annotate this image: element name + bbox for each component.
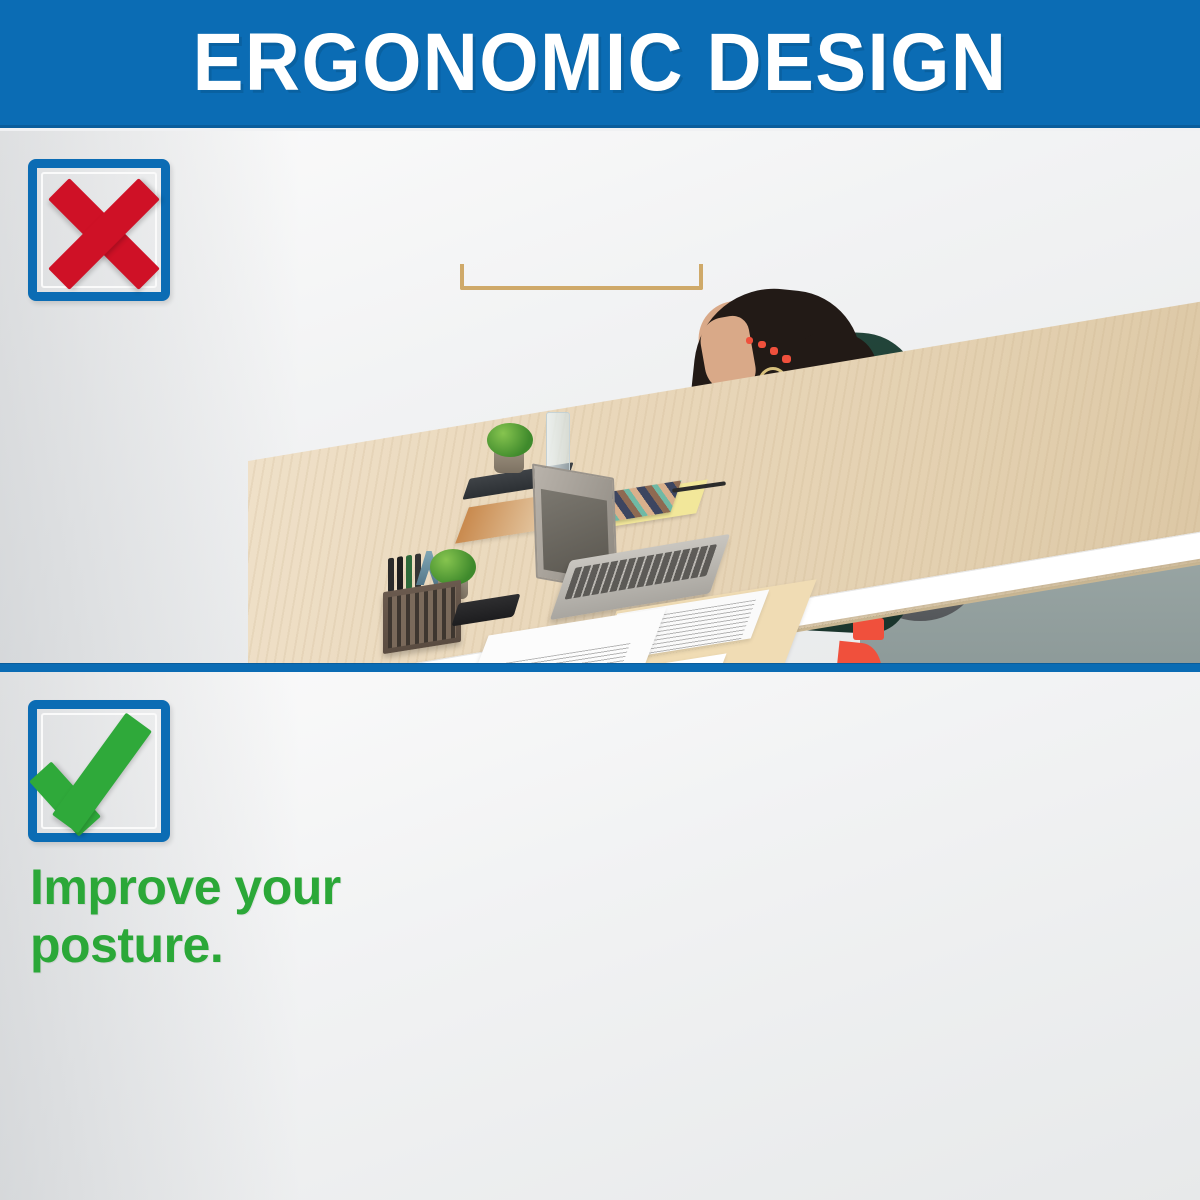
panel-good-posture: Improve your posture. [0, 672, 1200, 1200]
header-banner: ERGONOMIC DESIGN [0, 0, 1200, 128]
page-title: ERGONOMIC DESIGN [193, 22, 1008, 104]
organizer-slots [388, 587, 456, 649]
x-icon [20, 153, 180, 313]
panel-bad-posture [0, 131, 1200, 663]
desk-organizer [383, 580, 461, 654]
check-icon [28, 700, 198, 850]
caption-line-2: posture. [30, 916, 430, 974]
infographic-page: ERGONOMIC DESIGN [0, 0, 1200, 1200]
badge-incorrect [28, 159, 188, 319]
caption-line-1: Improve your [30, 858, 430, 916]
caption-improve-posture: Improve your posture. [30, 858, 430, 974]
plant-far [487, 423, 533, 457]
plant-near [430, 549, 476, 585]
picture-frame [460, 264, 703, 290]
badge-correct [28, 700, 198, 860]
paper-text-lines [493, 643, 630, 663]
